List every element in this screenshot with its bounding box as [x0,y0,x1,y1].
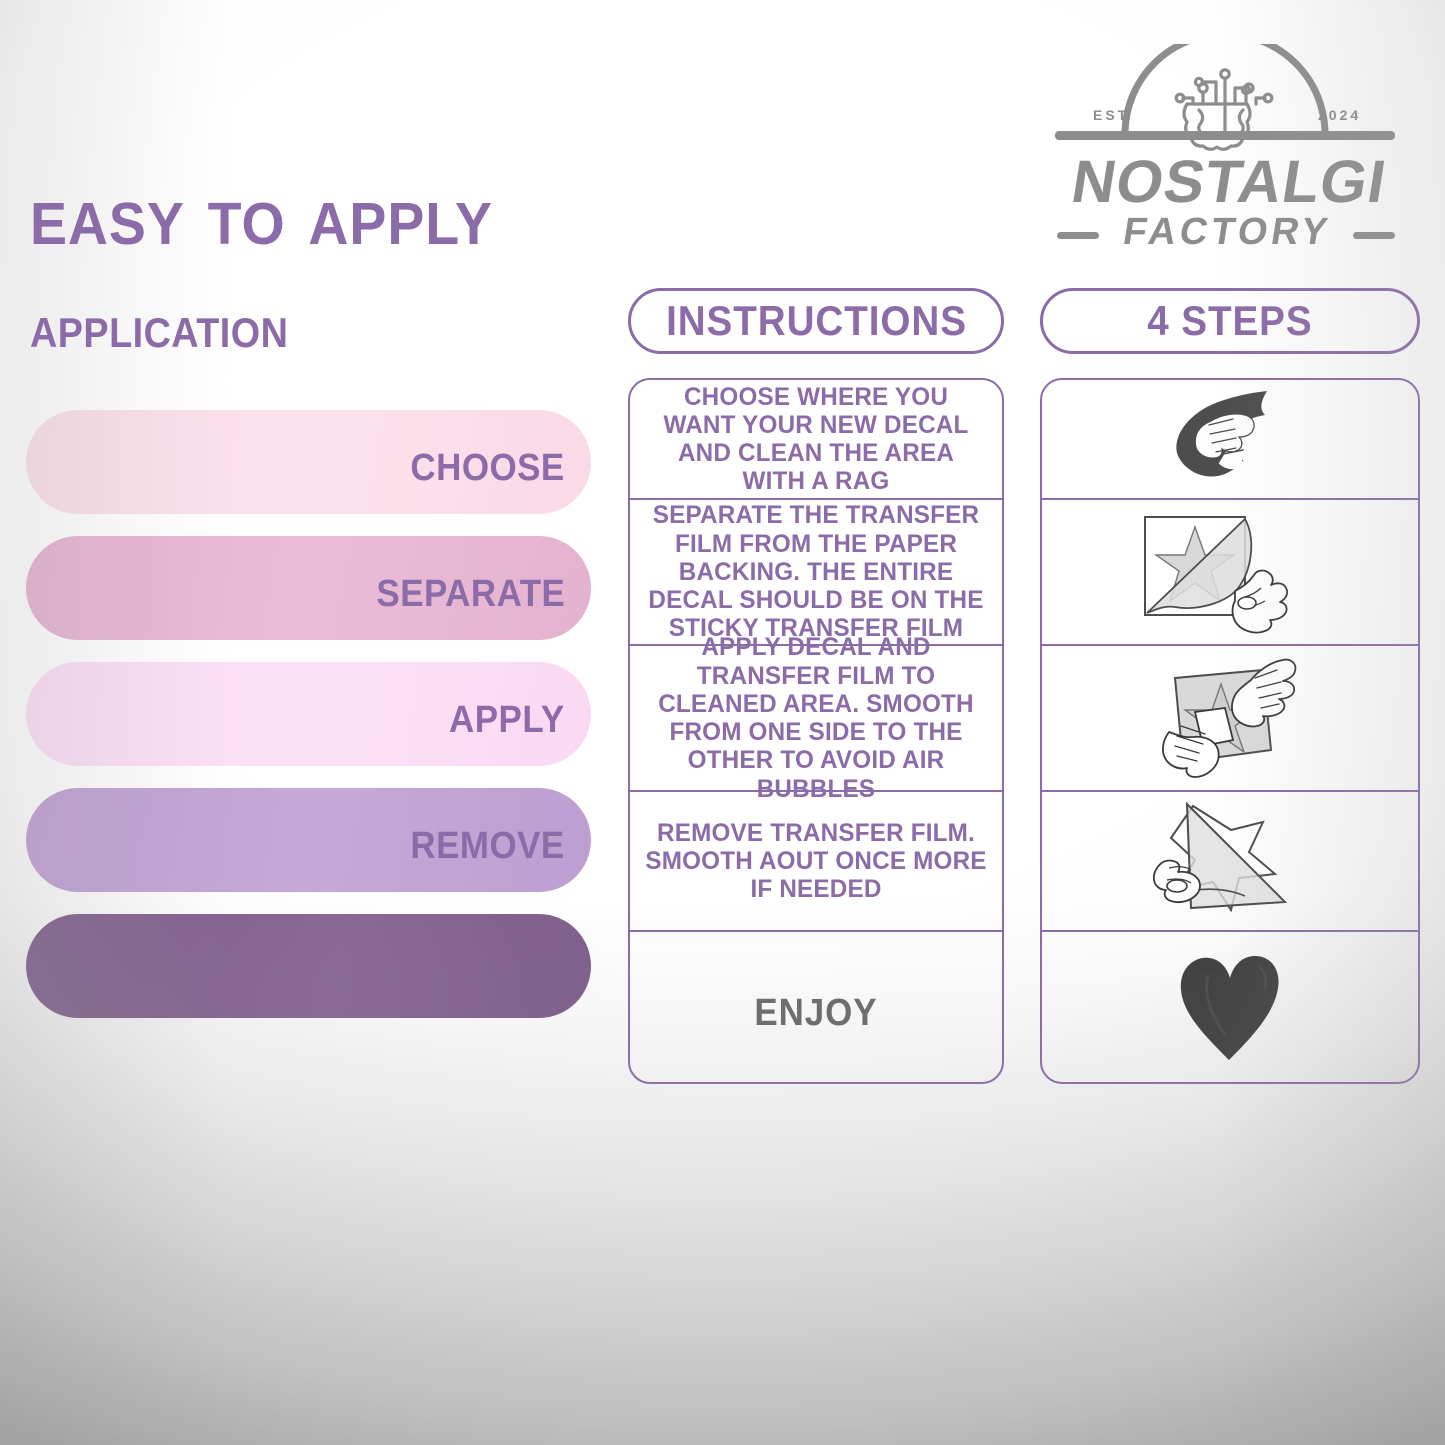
page-subtitle: Application [30,292,473,361]
brain-circuit-arch-icon: EST 2024 NOSTALGI FACTORY [1035,44,1415,249]
table-row: CHOOSE WHERE YOU WANT YOUR NEW DECAL AND… [630,380,1002,500]
table-row: REMOVE TRANSFER FILM. SMOOTH AOUT ONCE M… [630,792,1002,932]
hand-wiping-cloth-icon [1155,387,1305,491]
step-pill-choose[interactable]: Choose [26,410,591,514]
step-pill-remove[interactable]: Remove [26,788,591,892]
page-title: Easy To Apply [30,176,493,256]
step-pill-separate[interactable]: Separate [26,536,591,640]
instructions-header-label: INSTRUCTIONS [666,297,967,345]
table-row: APPLY DECAL AND TRANSFER FILM TO CLEANED… [630,646,1002,792]
peel-transfer-film-icon [1135,507,1325,637]
steps-header-badge: 4 STEPS [1040,288,1420,354]
table-row [1042,792,1418,932]
svg-text:FACTORY: FACTORY [1120,210,1334,249]
table-row [1042,646,1418,792]
brand-logo: EST 2024 NOSTALGI FACTORY [1035,44,1415,249]
instruction-text: SEPARATE THE TRANSFER FILM FROM THE PAPE… [645,501,986,642]
heart-icon [1175,948,1285,1066]
table-row: Enjoy [630,932,1002,1082]
poster-canvas: EST 2024 NOSTALGI FACTORY [0,0,1445,1445]
enjoy-label: Enjoy [754,976,877,1038]
instructions-panel: INSTRUCTIONS 4 STEPS CHOOSE WHERE YOU WA… [628,288,1420,1084]
steps-header-label: 4 STEPS [1147,297,1312,345]
instructions-header-badge: INSTRUCTIONS [628,288,1004,354]
step-pill-apply[interactable]: Apply [26,662,591,766]
table-row: SEPARATE THE TRANSFER FILM FROM THE PAPE… [630,500,1002,646]
svg-text:EST: EST [1093,107,1129,123]
instruction-text: APPLY DECAL AND TRANSFER FILM TO CLEANED… [645,633,986,803]
step-pill-label: Apply [449,683,565,745]
instruction-text: CHOOSE WHERE YOU WANT YOUR NEW DECAL AND… [645,383,986,496]
svg-text:2024: 2024 [1318,107,1361,123]
step-pill-label: Choose [411,431,565,493]
tables-row: CHOOSE WHERE YOU WANT YOUR NEW DECAL AND… [628,378,1420,1084]
step-pill-stack: Choose Separate Apply Remove [26,410,591,1040]
step-pill-final[interactable] [26,914,591,1018]
table-headers-row: INSTRUCTIONS 4 STEPS [628,288,1420,354]
table-row [1042,500,1418,646]
instruction-text: REMOVE TRANSFER FILM. SMOOTH AOUT ONCE M… [645,819,986,904]
step-pill-label: Separate [376,557,565,619]
steps-table [1040,378,1420,1084]
table-row [1042,932,1418,1082]
apply-decal-squeegee-icon [1133,652,1328,784]
heading-block: Easy To Apply Application [30,176,523,361]
step-pill-label: Remove [411,809,565,871]
remove-film-star-icon [1135,798,1325,924]
svg-text:NOSTALGI: NOSTALGI [1067,147,1391,215]
instructions-table: CHOOSE WHERE YOU WANT YOUR NEW DECAL AND… [628,378,1004,1084]
table-row [1042,380,1418,500]
